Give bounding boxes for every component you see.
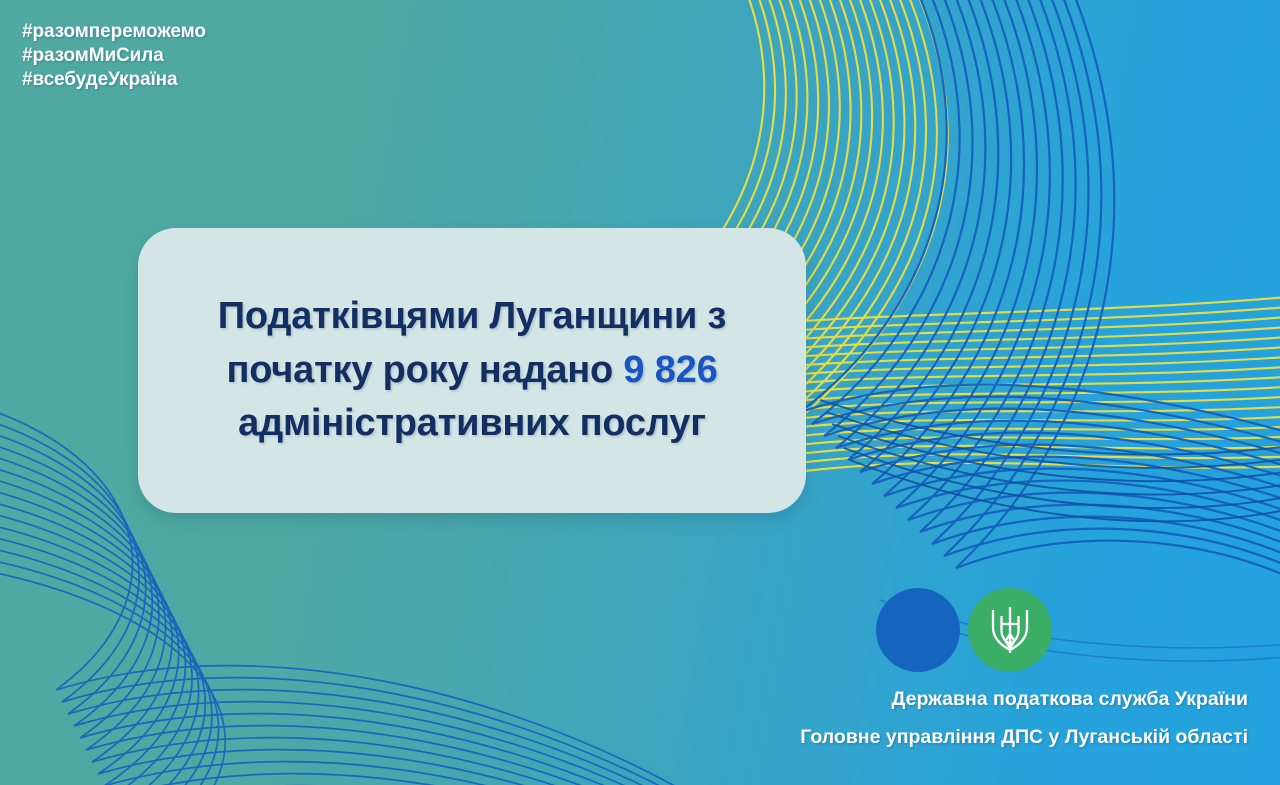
headline-line-2-prefix: початку року надано [226,349,623,391]
headline-statistic-value: 9 826 [623,349,717,391]
headline-line-3: адміністративних послуг [238,402,706,444]
hashtag-item-3: #всебудеУкраїна [22,68,206,92]
hashtag-block: #разомпереможемо #разомМиСила #всебудеУк… [22,20,206,92]
footer-agency-name: Державна податкова служба України [800,688,1248,711]
hashtag-item-2: #разомМиСила [22,44,206,68]
logo-blue-circle [876,588,960,672]
headline-card: Податківцями Луганщини з початку року на… [138,228,806,513]
footer-department-name: Головне управління ДПС у Луганській обла… [800,726,1248,749]
hashtag-item-1: #разомпереможемо [22,20,206,44]
headline-text: Податківцями Луганщини з початку року на… [138,290,806,452]
poster-canvas: #разомпереможемо #разомМиСила #всебудеУк… [0,0,1280,785]
agency-logo [876,588,1052,672]
headline-line-1: Податківцями Луганщини з [218,295,726,337]
footer-block: Державна податкова служба України Головн… [800,688,1248,749]
ukrainian-trident-tryzub-icon [968,588,1052,672]
